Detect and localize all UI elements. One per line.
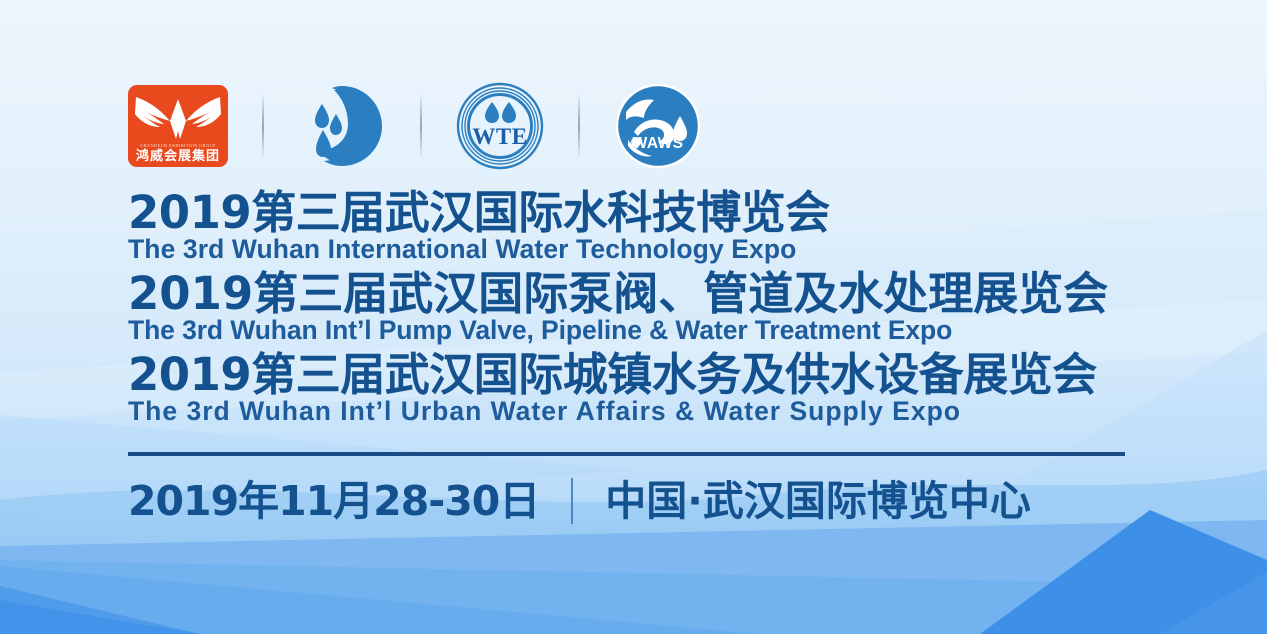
title-1-english: The 3rd Wuhan International Water Techno… <box>128 236 1148 264</box>
svg-text:WTE: WTE <box>472 124 527 149</box>
logo-row: GRANDEUR EXHIBITION GROUP 鸿威会展集团 <box>128 78 702 174</box>
title-3-english: The 3rd Wuhan Int’l Urban Water Affairs … <box>128 398 1148 426</box>
svg-text:WAWS: WAWS <box>633 135 684 152</box>
grandeur-chinese-text: 鸿威会展集团 <box>136 150 220 163</box>
date-venue-separator <box>571 478 573 524</box>
logo-separator-2 <box>420 94 422 158</box>
wte-seal-icon: WTE <box>456 82 544 170</box>
title-block-urban-water: 2019第三届武汉国际城镇水务及供水设备展览会 The 3rd Wuhan In… <box>128 352 1148 426</box>
horizontal-divider <box>128 452 1125 456</box>
title-3-chinese: 2019第三届武汉国际城镇水务及供水设备展览会 <box>128 352 1148 397</box>
title-1-chinese: 2019第三届武汉国际水科技博览会 <box>128 190 1148 235</box>
waws-logo[interactable]: WAWS <box>614 82 702 170</box>
water-droplet-circle-icon <box>298 82 386 170</box>
title-block-water-technology: 2019第三届武汉国际水科技博览会 The 3rd Wuhan Internat… <box>128 190 1148 264</box>
waws-globe-icon: WAWS <box>614 82 702 170</box>
water-droplet-circle-logo[interactable] <box>298 82 386 170</box>
title-group: 2019第三届武汉国际水科技博览会 The 3rd Wuhan Internat… <box>128 190 1148 432</box>
date-venue-row: 2019年11月28-30日 中国·武汉国际博览中心 <box>128 473 1031 529</box>
title-block-pump-valve: 2019第三届武汉国际泵阀、管道及水处理展览会 The 3rd Wuhan In… <box>128 271 1148 345</box>
title-2-english: The 3rd Wuhan Int’l Pump Valve, Pipeline… <box>128 317 1148 345</box>
wte-logo[interactable]: WTE <box>456 82 544 170</box>
logo-separator-3 <box>578 94 580 158</box>
grandeur-english-text: GRANDEUR EXHIBITION GROUP <box>140 144 216 148</box>
w-wings-mark <box>134 91 222 143</box>
logo-separator-1 <box>262 94 264 158</box>
event-date: 2019年11月28-30日 <box>128 481 539 522</box>
grandeur-exhibition-group-logo[interactable]: GRANDEUR EXHIBITION GROUP 鸿威会展集团 <box>128 85 228 167</box>
event-venue: 中国·武汉国际博览中心 <box>605 481 1031 522</box>
title-2-chinese: 2019第三届武汉国际泵阀、管道及水处理展览会 <box>128 271 1148 316</box>
event-banner: GRANDEUR EXHIBITION GROUP 鸿威会展集团 <box>0 0 1267 634</box>
